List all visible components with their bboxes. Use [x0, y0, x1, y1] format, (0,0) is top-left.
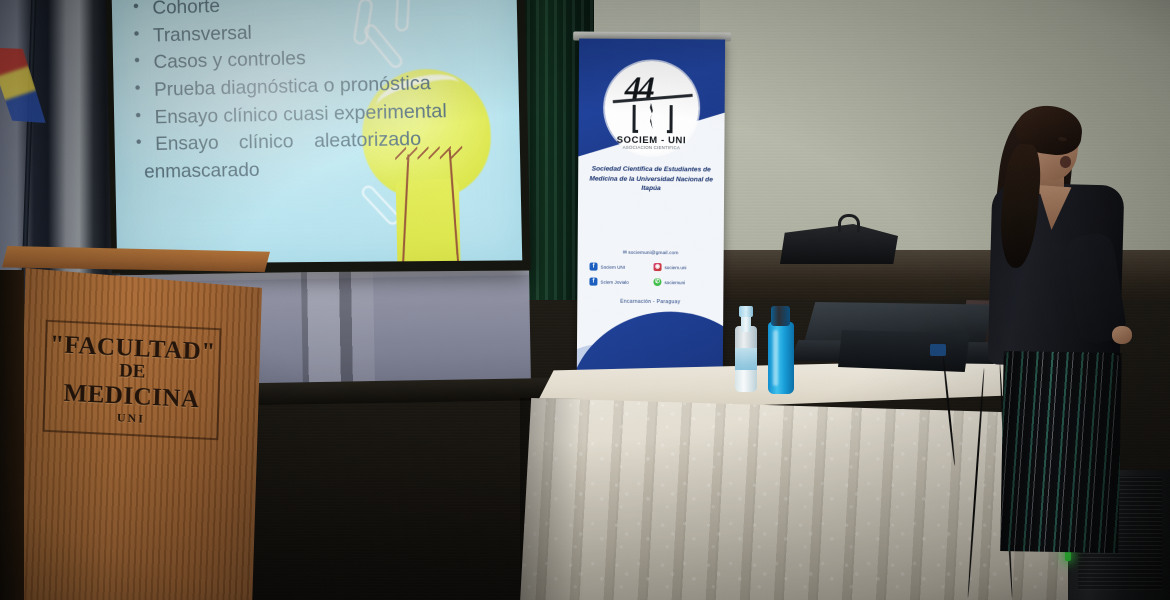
logo-subtext: ASOCIACION CIENTIFICA [604, 145, 698, 151]
sports-bottle-highlight [773, 330, 778, 386]
facebook-icon: f [590, 263, 598, 271]
presentation-photo: OLÓGICO Cohorte Transversal Casos y cont… [0, 0, 1170, 600]
social-label: sociemuni [664, 280, 685, 285]
social-label: sociem.uni [665, 265, 687, 270]
banner-face: 44 SOCIEM - UNI ASOCIACION CIENTIFICA So… [577, 38, 725, 372]
facebook-icon: f [589, 278, 597, 286]
plaque-line-2: DE [119, 362, 146, 384]
podium: "FACULTAD" DE MEDICINA UNI [0, 246, 272, 600]
whatsapp-icon: ✆ [653, 278, 661, 286]
sports-bottle-body [768, 322, 794, 394]
tablecloth-shadow [520, 398, 584, 600]
projection-screen-frame: OLÓGICO Cohorte Transversal Casos y cont… [106, 0, 531, 273]
water-bottle-label [735, 348, 757, 370]
bag-handle [838, 214, 860, 232]
banner-location: Encarnación - Paraguay [583, 299, 717, 306]
presenter-pants-shading [1000, 351, 1121, 553]
podium-top-surface [2, 246, 270, 272]
water-bottle-neck [741, 316, 751, 332]
social-item: ✆ sociemuni [653, 278, 713, 286]
sociem-logo: 44 SOCIEM - UNI ASOCIACION CIENTIFICA [604, 61, 699, 156]
presenter-pants [1000, 351, 1121, 553]
rollup-banner: 44 SOCIEM - UNI ASOCIACION CIENTIFICA So… [577, 31, 725, 372]
plaque-line-4: UNI [117, 411, 145, 425]
justified-word-1: Ensayo [155, 130, 219, 159]
presenter-hand-second [1112, 326, 1132, 344]
sports-bottle-cap [771, 306, 790, 326]
social-item: ◉ sociem.uni [654, 263, 714, 271]
banner-email: ✉ sociemuni@gmail.com [584, 251, 718, 257]
slide-bullet-list: Cohorte Transversal Casos y controles Pr… [127, 0, 522, 187]
presenter [980, 104, 1140, 524]
slide-bullet-wrap: enmascarado [130, 152, 522, 186]
social-item: f Sociem UNI [590, 263, 650, 271]
banner-social-list: f Sociem UNI ◉ sociem.uni f Sciem Jovial… [589, 263, 713, 287]
justified-word-2: clínico [239, 129, 294, 158]
social-label: Sociem UNI [601, 264, 626, 269]
justified-word-3: aleatorizado [314, 126, 422, 156]
projection-screen: OLÓGICO Cohorte Transversal Casos y cont… [111, 0, 522, 264]
banner-caption: Sociedad Científica de Estudiantes de Me… [584, 165, 718, 195]
water-bottle-cap [739, 306, 753, 317]
social-label: Sciem Jovialo [600, 279, 628, 284]
projector-unit [838, 330, 970, 372]
blue-sports-bottle [768, 306, 794, 394]
skirt-pleat [301, 271, 375, 390]
instagram-icon: ◉ [654, 263, 662, 271]
social-item: f Sciem Jovialo [589, 278, 649, 286]
water-bottle [735, 306, 757, 392]
plaque-line-3: MEDICINA [63, 379, 200, 413]
podium-plaque: "FACULTAD" DE MEDICINA UNI [43, 320, 222, 441]
projector-port [930, 344, 946, 356]
podium-side-shadow [0, 270, 24, 600]
